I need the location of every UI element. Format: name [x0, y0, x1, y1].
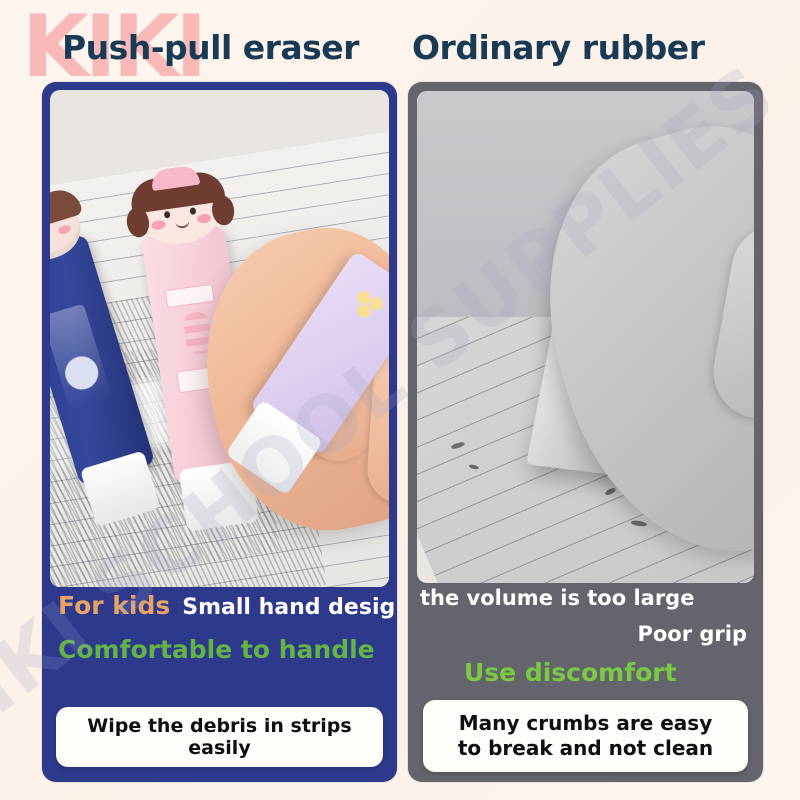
finger [706, 218, 754, 426]
comparison-infographic: KIKI Push-pull eraser Ordinary rubber [0, 0, 800, 800]
benefit-row-handling: Comfortable to handle [58, 637, 397, 662]
right-caption-box: Many crumbs are easy to break and not cl… [423, 700, 748, 772]
benefit-audience-label: For kids [58, 593, 170, 618]
right-caption-line1: Many crumbs are easy [459, 711, 713, 735]
headings-row: Push-pull eraser Ordinary rubber [0, 0, 800, 82]
drawback-size-label: the volume is too large [420, 588, 694, 609]
pink-eraser-label [165, 284, 215, 309]
left-photo-frame [50, 90, 389, 587]
benefit-handling-label: Comfortable to handle [58, 637, 375, 662]
drawback-grip-label: Poor grip [637, 624, 747, 645]
drawback-row-size: the volume is too large [420, 588, 763, 609]
benefit-row-audience: For kids Small hand design [58, 593, 397, 619]
character-cheek [151, 220, 166, 231]
left-caption-text: Wipe the debris in strips easily [56, 715, 383, 759]
character-mouth [175, 218, 190, 229]
left-product-photo [50, 90, 389, 587]
drawback-comfort-label: Use discomfort [464, 660, 677, 685]
right-drawback-labels: the volume is too large Poor grip Use di… [408, 584, 763, 702]
eraser-flower-print [341, 281, 389, 332]
blue-eraser-print [50, 303, 113, 411]
character-cheek [196, 213, 211, 224]
right-caption-line2: to break and not clean [458, 736, 713, 760]
right-heading: Ordinary rubber [412, 28, 704, 67]
left-caption-box: Wipe the debris in strips easily [56, 707, 383, 767]
left-heading: Push-pull eraser [62, 28, 359, 67]
drawback-row-grip: Poor grip [408, 624, 747, 645]
character-cheek [57, 224, 72, 235]
character-eye [189, 207, 196, 215]
drawback-row-comfort: Use discomfort [464, 660, 763, 685]
right-photo-frame [417, 91, 754, 583]
left-benefit-labels: For kids Small hand design Comfortable t… [42, 587, 397, 705]
left-panel-push-pull-eraser: For kids Small hand design Comfortable t… [42, 82, 397, 782]
right-panel-ordinary-rubber: the volume is too large Poor grip Use di… [408, 82, 763, 782]
right-caption-text: Many crumbs are easy to break and not cl… [458, 711, 713, 761]
benefit-design-label: Small hand design [182, 597, 397, 619]
pink-eraser-character-head [138, 178, 222, 248]
character-eye [164, 211, 171, 219]
right-product-photo [417, 91, 754, 583]
